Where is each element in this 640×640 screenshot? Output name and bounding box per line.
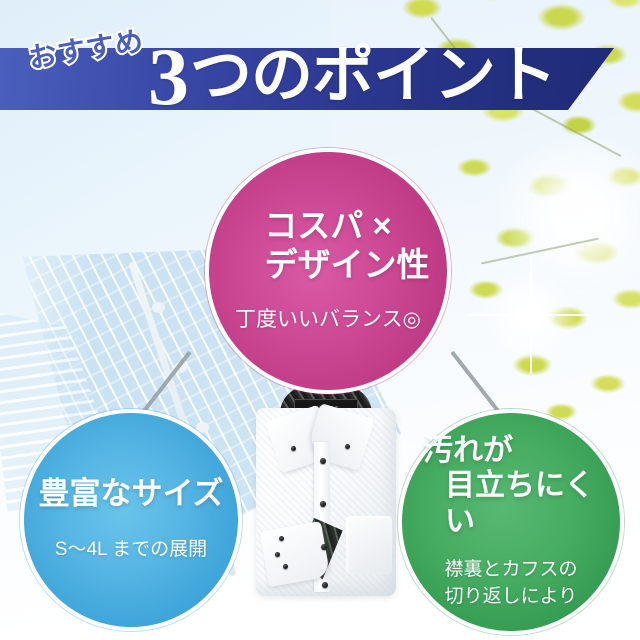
point-bubble-cost-design[interactable]: コスパ × デザイン性 丁度いいバランス◎ bbox=[205, 148, 451, 394]
point-subtext-cost-design: 丁度いいバランス◎ bbox=[235, 305, 421, 335]
point-subtext-line2: 切り返しにより bbox=[444, 584, 577, 611]
sun-flare-ray-v bbox=[530, 256, 532, 374]
point-heading-line1: 汚れが bbox=[423, 434, 513, 467]
shirt-collar-button-left bbox=[291, 446, 296, 451]
point-heading-line1: コスパ × bbox=[264, 207, 391, 244]
shirt-placket-button-4 bbox=[322, 582, 328, 588]
header-title-text: つのポイント bbox=[190, 41, 556, 110]
point-bubble-stain-resistant[interactable]: 汚れが 目立ちにくい 襟裏とカフスの 切り返しにより bbox=[398, 409, 624, 635]
shirt-placket-button-1 bbox=[320, 458, 326, 464]
shirt-collar-button-right bbox=[345, 444, 350, 449]
product-shirt-image: BIG MAN bbox=[250, 386, 400, 598]
point-heading-size-range: 豊富なサイズ bbox=[38, 476, 223, 513]
point-heading-line2: 目立ちにくい bbox=[423, 468, 599, 539]
point-bubble-size-range[interactable]: 豊富なサイズ S〜4L までの展開 bbox=[20, 409, 242, 631]
promo-banner: おすすめ 3つのポイント BIG MAN コスパ × デ bbox=[0, 0, 640, 640]
point-heading-line2: デザイン性 bbox=[227, 246, 430, 285]
shirt-cuff-button-3 bbox=[283, 564, 288, 569]
header-title: 3つのポイント bbox=[148, 36, 556, 118]
shirt-placket-button-2 bbox=[320, 501, 326, 507]
shirt-cuff-button-2 bbox=[275, 552, 280, 557]
shirt-cuff-button-1 bbox=[279, 536, 284, 541]
shirt-placket-button-3 bbox=[321, 544, 327, 550]
point-subtext-stain-resistant: 襟裏とカフスの 切り返しにより bbox=[444, 557, 577, 611]
point-heading-stain-resistant: 汚れが 目立ちにくい bbox=[423, 433, 599, 539]
header-point-count: 3 bbox=[148, 31, 188, 122]
point-subtext-size-range: S〜4L までの展開 bbox=[55, 537, 207, 564]
point-subtext-line1: 襟裏とカフスの bbox=[444, 557, 577, 584]
shirt-sleeve-fold bbox=[346, 516, 392, 574]
point-heading-cost-design: コスパ × デザイン性 bbox=[227, 207, 430, 285]
shirt-cuff bbox=[260, 521, 331, 587]
tower-mast-knot-1 bbox=[152, 302, 165, 313]
